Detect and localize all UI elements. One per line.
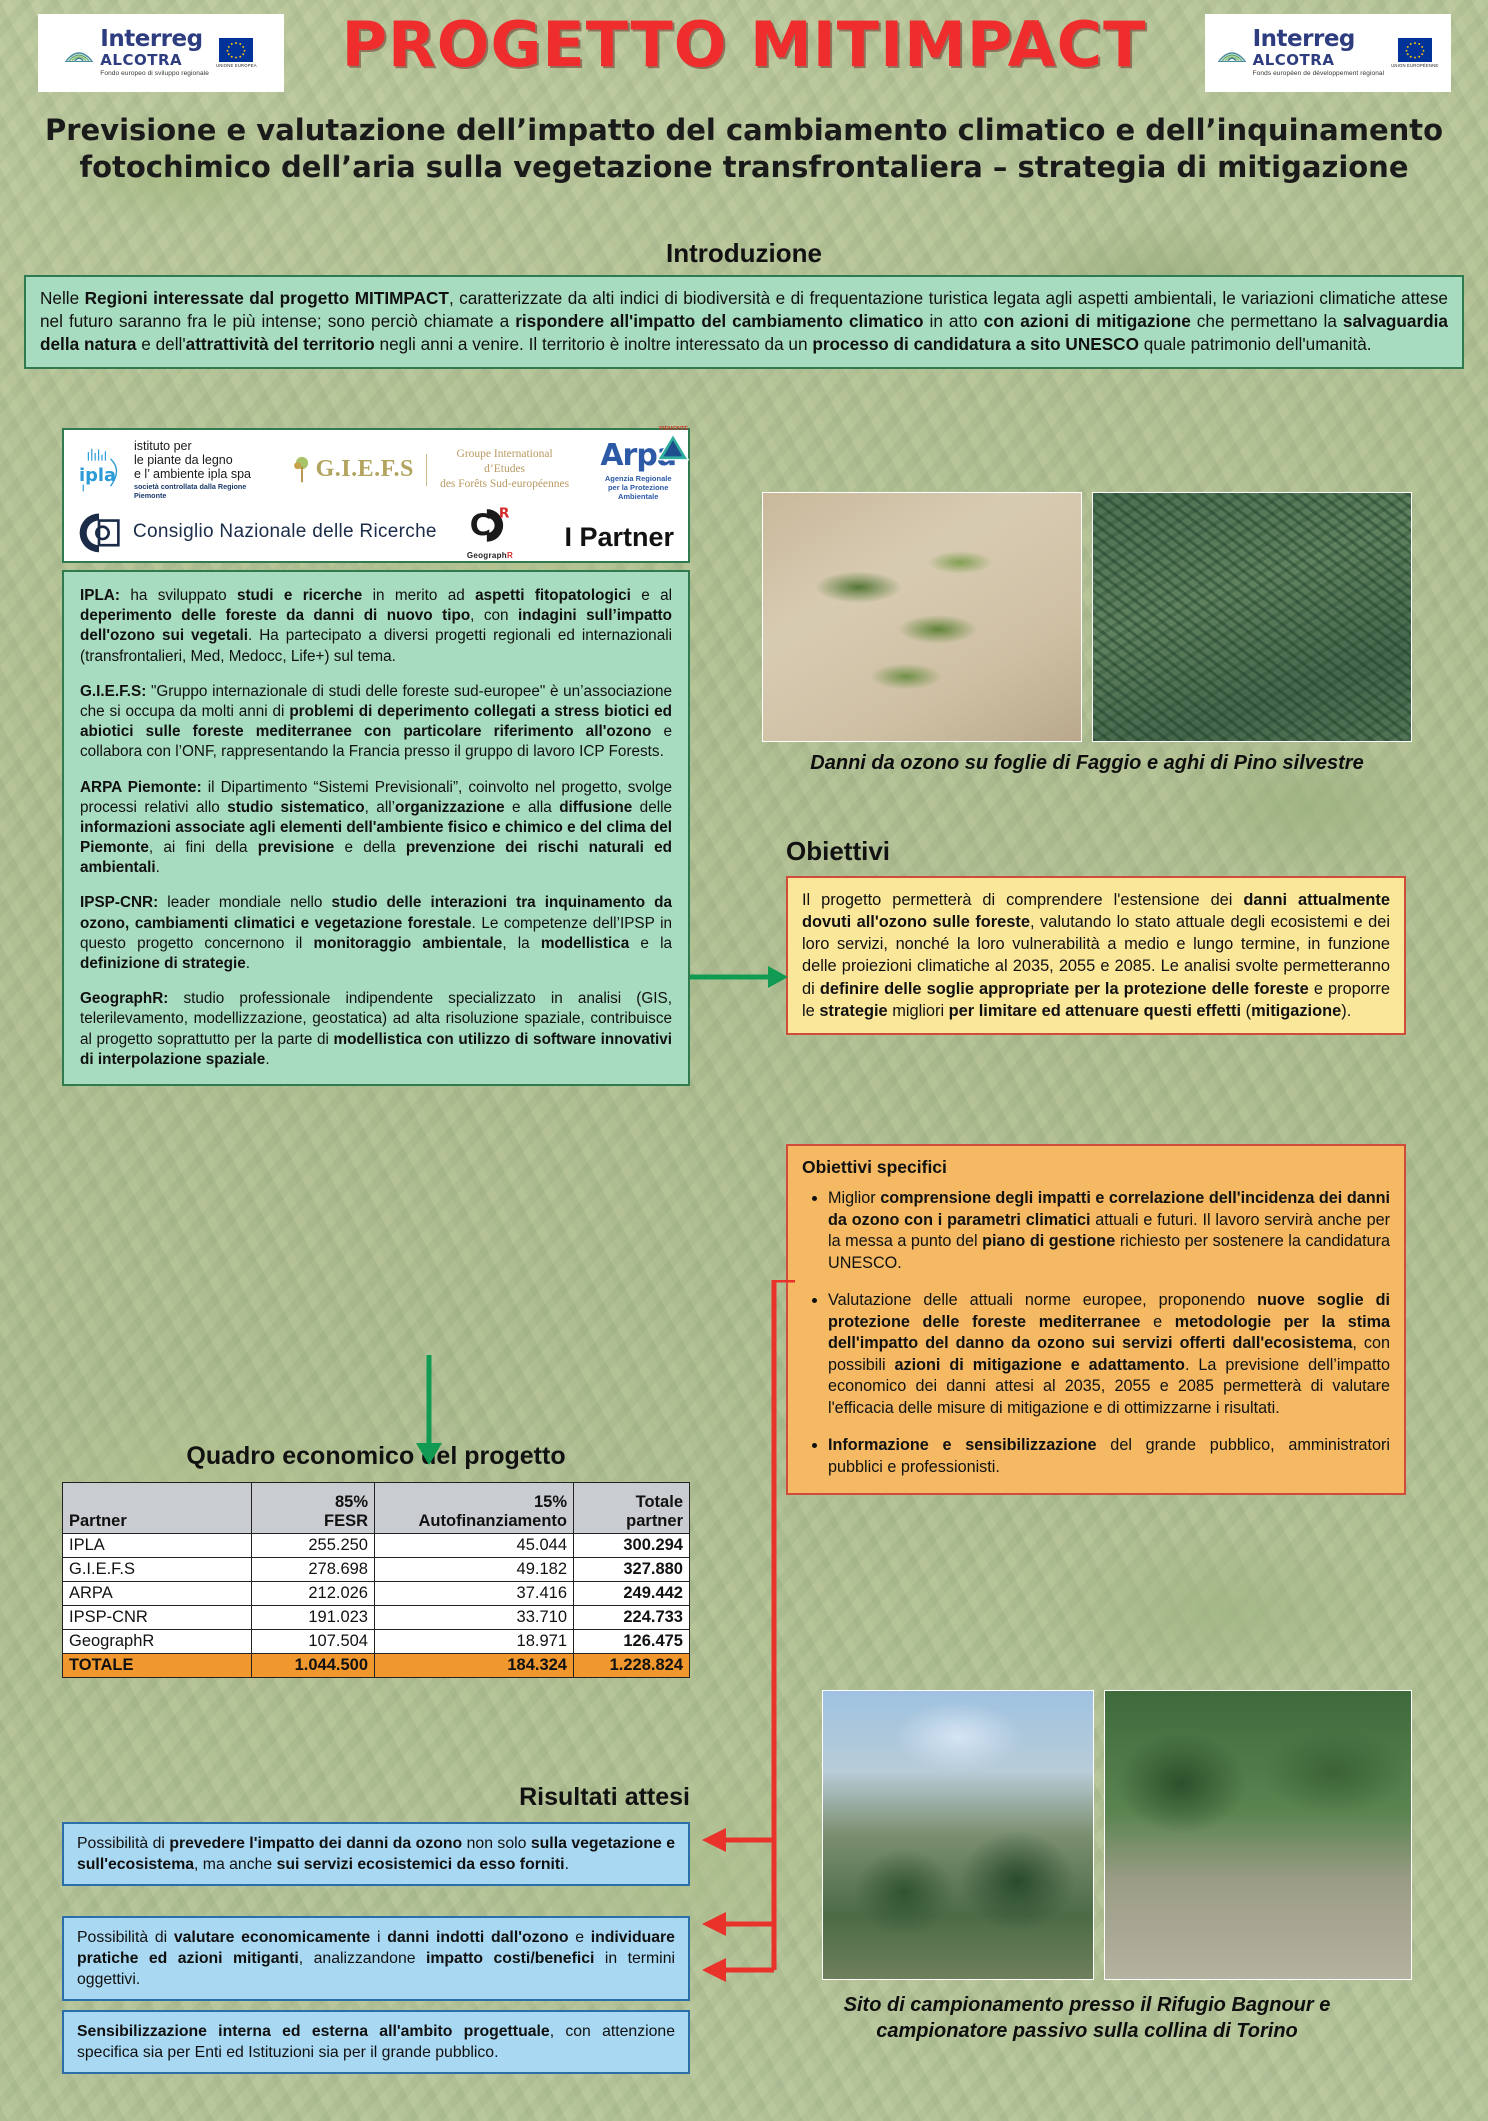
table-row: GeographR107.50418.971126.475 — [63, 1630, 690, 1654]
objectives-text: Il progetto permetterà di comprendere l'… — [786, 876, 1406, 1035]
table-row: IPSP-CNR191.02333.710224.733 — [63, 1606, 690, 1630]
cell-partner: IPSP-CNR — [63, 1606, 252, 1630]
cell-partner: IPLA — [63, 1534, 252, 1558]
cell-total: 126.475 — [574, 1630, 690, 1654]
photo-pine-needles-ozone-damage — [1092, 492, 1412, 742]
specific-objectives-heading: Obiettivi specifici — [802, 1157, 1390, 1178]
table-row: G.I.E.F.S278.69849.182327.880 — [63, 1558, 690, 1582]
partner-paragraph-ipsp-cnr: IPSP-CNR: leader mondiale nello studio d… — [80, 893, 672, 974]
specific-objective-item: Informazione e sensibilizzazione del gra… — [828, 1435, 1390, 1478]
table-row: IPLA255.25045.044300.294 — [63, 1534, 690, 1558]
partner-logos-panel: ipla istituto per le piante da legno e l… — [62, 428, 690, 563]
geographr-mark-icon: C R — [463, 504, 533, 552]
col-header-partner: Partner — [63, 1483, 252, 1534]
cell-partner: TOTALE — [63, 1654, 252, 1678]
cnr-mark-icon — [76, 510, 122, 554]
svg-text:C: C — [470, 508, 491, 542]
ipla-note: società controllata dalla Regione Piemon… — [134, 483, 275, 499]
giefs-divider — [426, 454, 427, 486]
cell-auto: 49.182 — [375, 1558, 574, 1582]
cnr-name: Consiglio Nazionale delle Ricerche — [133, 521, 437, 543]
cell-auto: 45.044 — [375, 1534, 574, 1558]
partner-paragraph-arpa: ARPA Piemonte: il Dipartimento “Sistemi … — [80, 778, 672, 879]
objectives-heading: Obiettivi — [786, 836, 890, 867]
partner-descriptions: IPLA: ha sviluppato studi e ricerche in … — [62, 570, 690, 1086]
result-box-1: Possibilità di prevedere l'impatto dei d… — [62, 1822, 690, 1886]
economics-table: Partner 85% FESR 15% Autofinanziamento T… — [62, 1482, 690, 1678]
cell-fesr: 278.698 — [252, 1558, 375, 1582]
partner-paragraph-giefs: G.I.E.F.S: "Gruppo internazionale di stu… — [80, 682, 672, 763]
specific-objective-item: Valutazione delle attuali norme europee,… — [828, 1290, 1390, 1419]
giefs-desc-line2: des Forêts Sud-européennes — [439, 477, 571, 492]
svg-text:ipla: ipla — [79, 465, 116, 486]
cell-partner: ARPA — [63, 1582, 252, 1606]
table-row-total: TOTALE1.044.500184.3241.228.824 — [63, 1654, 690, 1678]
partner-paragraph-geographr: GeographR: studio professionale indipend… — [80, 989, 672, 1070]
poster-subtitle: Previsione e valutazione dell’impatto de… — [20, 112, 1468, 186]
results-heading: Risultati attesi — [62, 1783, 690, 1812]
ipla-line3: e l’ ambiente ipla spa — [134, 467, 275, 481]
table-header-row: Partner 85% FESR 15% Autofinanziamento T… — [63, 1483, 690, 1534]
partner-paragraph-ipla: IPLA: ha sviluppato studi e ricerche in … — [80, 586, 672, 667]
specific-objective-item: Miglior comprensione degli impatti e cor… — [828, 1188, 1390, 1274]
arrow-green-partners-to-objectives — [690, 962, 790, 992]
photo-caption-bottom: Sito di campionamento presso il Rifugio … — [762, 1992, 1412, 2044]
photo-caption-top: Danni da ozono su foglie di Faggio e agh… — [762, 752, 1412, 775]
poster-root: Interreg ALCOTRA Fondo europeo di svilup… — [0, 0, 1488, 2121]
cell-fesr: 191.023 — [252, 1606, 375, 1630]
introduction-text: Nelle Regioni interessate dal progetto M… — [24, 275, 1464, 369]
giefs-acronym: G.I.E.F.S — [316, 456, 414, 483]
piemonte-triangle-icon — [656, 432, 690, 462]
arpa-piemonte-logo: PIEMONTE Arpa Agenzia Regionaleper la Pr… — [588, 438, 688, 501]
ipla-line2: le piante da legno — [134, 453, 275, 467]
cell-partner: G.I.E.F.S — [63, 1558, 252, 1582]
tree-icon — [293, 456, 311, 484]
cell-partner: GeographR — [63, 1630, 252, 1654]
cell-auto: 33.710 — [375, 1606, 574, 1630]
col-header-autofinanziamento: 15% Autofinanziamento — [375, 1483, 574, 1534]
economics-heading: Quadro economico del progetto — [62, 1442, 690, 1471]
ipla-logo: ipla istituto per le piante da legno e l… — [76, 439, 275, 499]
arpa-subtitle: Agenzia Regionaleper la Protezione Ambie… — [588, 474, 688, 501]
ipla-mark-icon: ipla — [76, 447, 128, 493]
col-header-fesr: 85% FESR — [252, 1483, 375, 1534]
cell-total: 1.228.824 — [574, 1654, 690, 1678]
result-box-3: Sensibilizzazione interna ed esterna all… — [62, 2010, 690, 2074]
giefs-logo: G.I.E.F.S Groupe International d’Etudes … — [293, 447, 571, 492]
table-row: ARPA212.02637.416249.442 — [63, 1582, 690, 1606]
cell-auto: 18.971 — [375, 1630, 574, 1654]
giefs-desc-line1: Groupe International d’Etudes — [439, 447, 571, 477]
geographr-name: GeographR — [467, 551, 513, 560]
photo-beech-leaves-ozone-damage — [762, 492, 1082, 742]
specific-objectives-box: Obiettivi specifici Miglior comprensione… — [786, 1144, 1406, 1495]
cell-total: 224.733 — [574, 1606, 690, 1630]
arrow-red-objectives-to-results — [690, 1280, 802, 2000]
result-box-2: Possibilità di valutare economicamente i… — [62, 1916, 690, 2001]
photo-sampling-site-rifugio-bagnour — [822, 1690, 1094, 1980]
col-header-totale-partner: Totale partner — [574, 1483, 690, 1534]
cell-fesr: 255.250 — [252, 1534, 375, 1558]
cell-fesr: 212.026 — [252, 1582, 375, 1606]
cell-total: 327.880 — [574, 1558, 690, 1582]
poster-title: PROGETTO MITIMPACT — [0, 8, 1488, 81]
cnr-logo: Consiglio Nazionale delle Ricerche — [76, 510, 437, 554]
cell-total: 249.442 — [574, 1582, 690, 1606]
ipla-line1: istituto per — [134, 439, 275, 453]
cell-auto: 37.416 — [375, 1582, 574, 1606]
cell-fesr: 107.504 — [252, 1630, 375, 1654]
introduction-heading: Introduzione — [0, 238, 1488, 269]
cell-total: 300.294 — [574, 1534, 690, 1558]
photo-passive-sampler-collina-torino — [1104, 1690, 1412, 1980]
geographr-logo: C R GeographR — [463, 504, 533, 560]
cell-auto: 184.324 — [375, 1654, 574, 1678]
cell-fesr: 1.044.500 — [252, 1654, 375, 1678]
arrow-green-partners-to-table — [412, 1355, 446, 1467]
svg-text:R: R — [499, 506, 510, 522]
partners-panel-title: I Partner — [564, 522, 674, 553]
